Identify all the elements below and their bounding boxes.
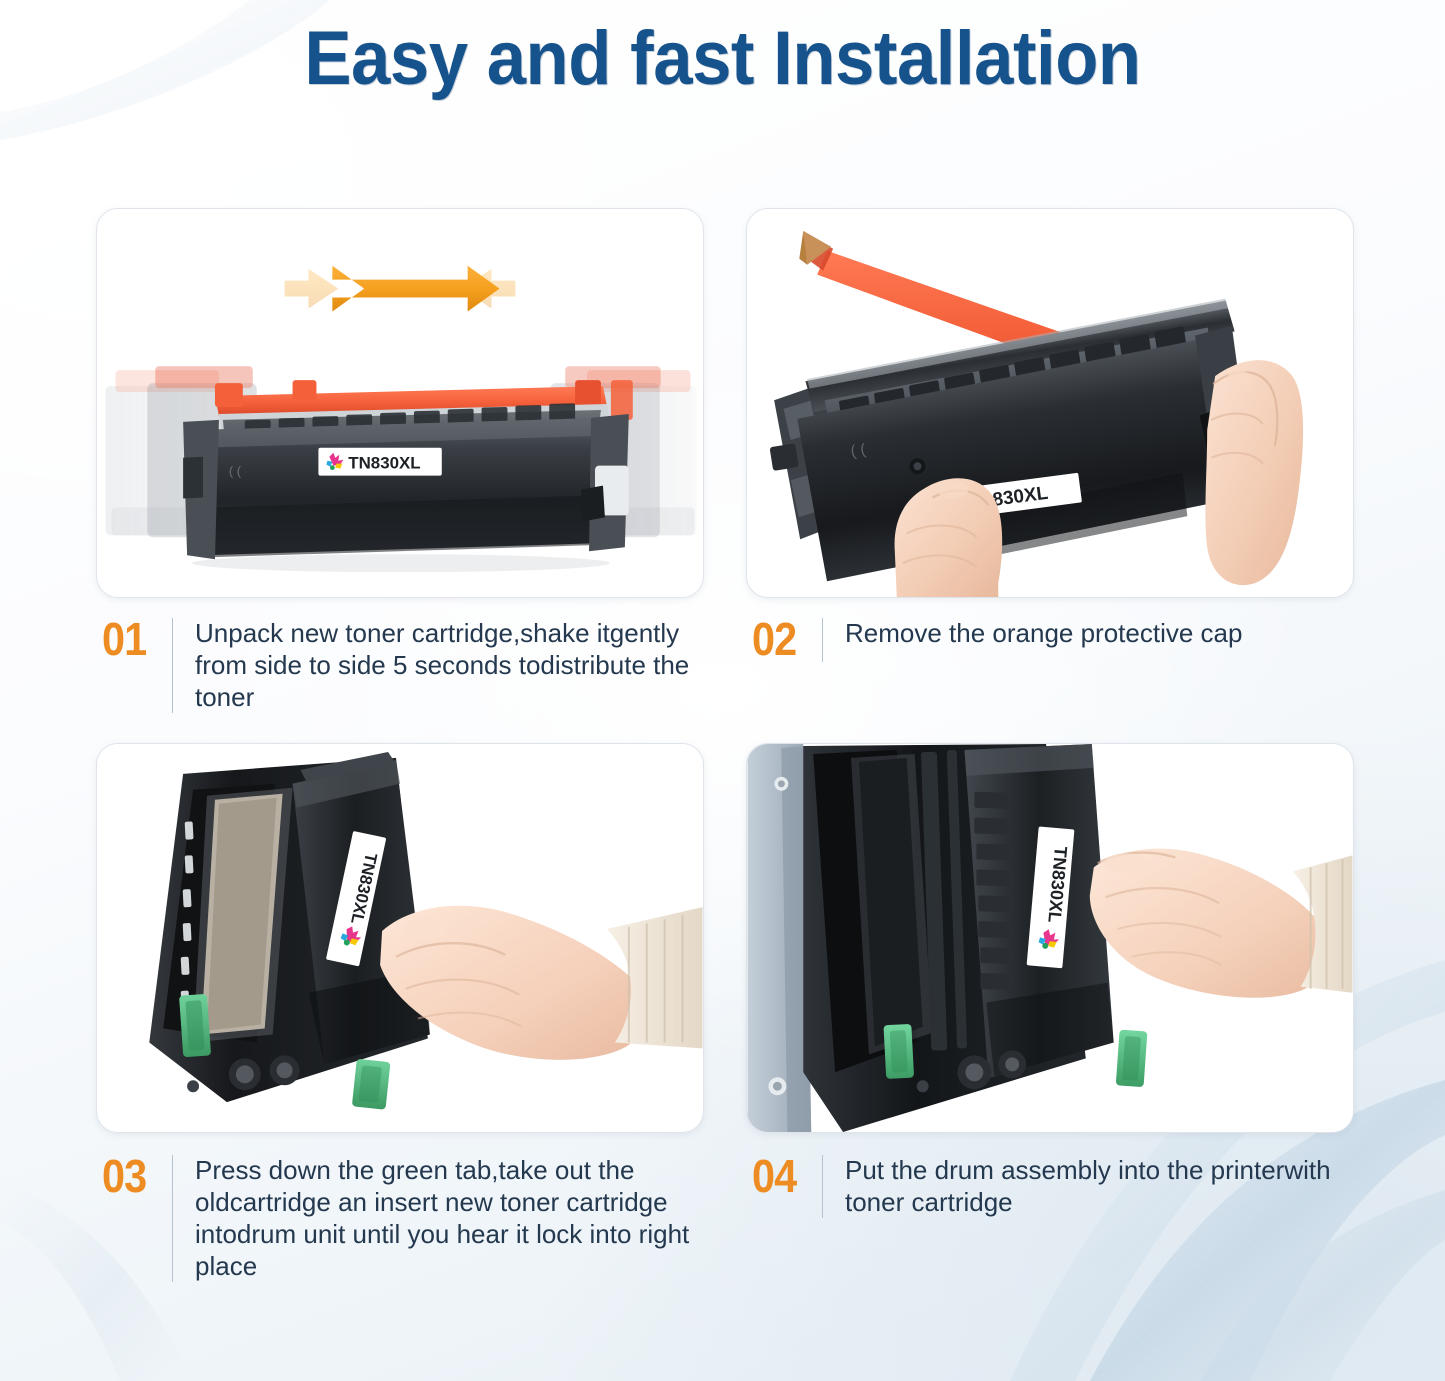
step-01-caption: 01 Unpack new toner cartridge,shake itge… (96, 598, 704, 713)
step-04-caption: 04 Put the drum assembly into the printe… (746, 1133, 1354, 1218)
toner-cartridge: ( ( TN830XL (183, 380, 633, 572)
green-tab-left (179, 994, 211, 1057)
step-04-photo-card: TN830XL (746, 743, 1354, 1133)
page-header: Easy and fast Installation (0, 12, 1445, 106)
step-01-photo-card: ( ( TN830XL (96, 208, 704, 598)
step-03-caption: 03 Press down the green tab,take out the… (96, 1133, 704, 1282)
drum-assembly-into-printer-illustration: TN830XL (747, 744, 1353, 1132)
svg-text:( (: ( ( (229, 464, 242, 479)
ce-mark: ( ( (229, 464, 242, 479)
step-03-number: 03 (102, 1153, 158, 1199)
step-04: TN830XL (746, 743, 1354, 1282)
step-04-number: 04 (752, 1153, 808, 1199)
product-label: TN830XL (318, 448, 441, 476)
step-01-text: Unpack new toner cartridge,shake itgentl… (195, 616, 700, 713)
removing-orange-cap-illustration: ( ( TN830XL (747, 209, 1353, 597)
step-03-photo-card: TN830XL (96, 743, 704, 1133)
step-02-text: Remove the orange protective cap (845, 616, 1350, 649)
step-04-divider (822, 1155, 823, 1218)
cartridge-label-text: TN830XL (348, 454, 420, 473)
installation-steps-grid: ( ( TN830XL (96, 208, 1354, 1282)
step-01-number: 01 (102, 616, 158, 662)
step-02: ( ( TN830XL (746, 208, 1354, 713)
printer-chassis (748, 744, 812, 1132)
step-03-divider (172, 1155, 173, 1282)
step-01-divider (172, 618, 173, 713)
green-tab-right (1116, 1030, 1148, 1088)
step-02-divider (822, 618, 823, 662)
toner-cartridge: TN830XL (964, 744, 1113, 1078)
page-title: Easy and fast Installation (51, 12, 1395, 106)
green-tab-left (883, 1024, 914, 1079)
step-03: TN830XL (96, 743, 704, 1282)
toner-cartridge-shake-illustration: ( ( TN830XL (97, 209, 703, 597)
step-02-photo-card: ( ( TN830XL (746, 208, 1354, 598)
step-01: ( ( TN830XL (96, 208, 704, 713)
step-02-number: 02 (752, 616, 808, 662)
step-03-text: Press down the green tab,take out the ol… (195, 1153, 700, 1282)
green-tab-bottom (352, 1059, 391, 1110)
insert-toner-into-drum-illustration: TN830XL (97, 744, 703, 1132)
step-04-text: Put the drum assembly into the printerwi… (845, 1153, 1350, 1218)
step-02-caption: 02 Remove the orange protective cap (746, 598, 1354, 662)
